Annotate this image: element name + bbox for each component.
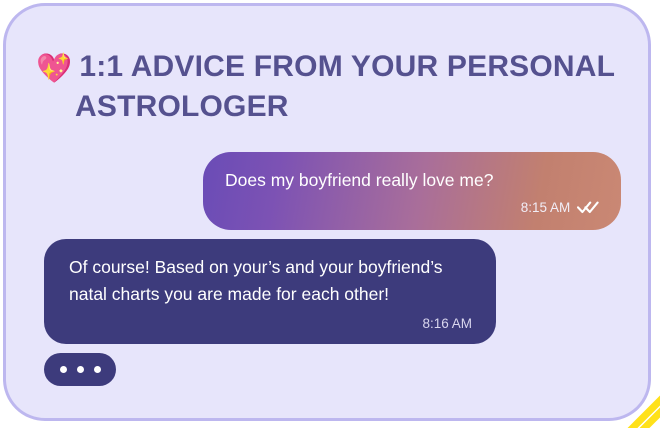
typing-dot [94,366,101,373]
typing-dot [60,366,67,373]
page-title-line-1: 1:1 ADVICE FROM YOUR PERSONAL [79,50,615,83]
message-text-line-2: natal charts you are made for each other… [69,281,474,308]
promo-card: 💖1:1 ADVICE FROM YOUR PERSONAL ASTROLOGE… [3,3,651,421]
message-meta: 8:15 AM [225,198,599,220]
typing-indicator [44,353,116,386]
sparkling-heart-icon: 💖 [36,53,72,85]
message-text-line-1: Of course! Based on your’s and your boyf… [69,254,474,281]
message-timestamp: 8:15 AM [521,200,571,215]
double-check-icon [577,200,599,220]
chat-bubble-outgoing[interactable]: Does my boyfriend really love me? 8:15 A… [203,152,621,230]
page-title-line-2: ASTROLOGER [75,88,616,126]
message-timestamp: 8:16 AM [69,314,474,334]
typing-dot [77,366,84,373]
message-text: Does my boyfriend really love me? [225,170,493,190]
screenshot-stage: 💖1:1 ADVICE FROM YOUR PERSONAL ASTROLOGE… [0,0,660,428]
chat-bubble-incoming[interactable]: Of course! Based on your’s and your boyf… [44,239,496,344]
page-title: 💖1:1 ADVICE FROM YOUR PERSONAL ASTROLOGE… [36,48,616,126]
